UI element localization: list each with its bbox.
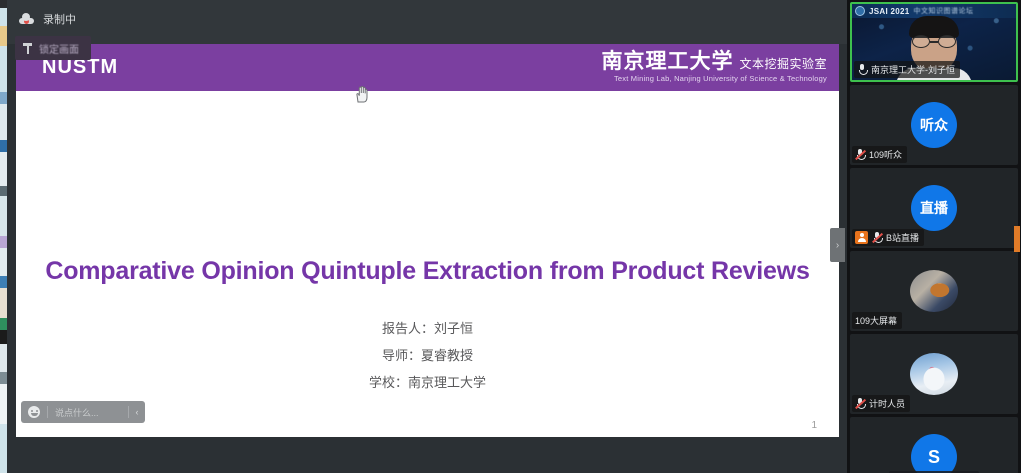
- participant-name: B站直播: [886, 231, 919, 244]
- participant-tile-speaker[interactable]: JSAI 2021 中文知识图谱论坛 南京理工大学-刘子恒: [850, 2, 1018, 82]
- slide-page-number: 1: [811, 420, 817, 431]
- meta-presenter: 报告人：刘子恒: [16, 316, 839, 343]
- meta-advisor: 导师：夏睿教授: [16, 343, 839, 370]
- participant-tile-audience[interactable]: 听众 109听众: [850, 85, 1018, 165]
- meeting-top-bar: 录制中: [7, 0, 847, 44]
- participant-tile-timekeeper[interactable]: 计时人员: [850, 334, 1018, 414]
- screen-share-meeting-window: 录制中 锁定画面 NUSTM 南京理工大学 文本挖掘实验室 Text Minin…: [0, 0, 1021, 473]
- pin-tooltip-label: 锁定画面: [39, 41, 79, 56]
- participant-name: 计时人员: [869, 397, 905, 410]
- participant-tile-s[interactable]: S ⌄: [850, 417, 1018, 473]
- chat-collapse-icon[interactable]: ‹: [128, 406, 145, 418]
- recording-label: 录制中: [43, 11, 76, 27]
- pin-video-tooltip[interactable]: 锁定画面: [15, 36, 91, 60]
- slide-body: Comparative Opinion Quintuple Extraction…: [16, 91, 839, 437]
- participant-label: B站直播: [852, 229, 924, 246]
- conference-logo-icon: [855, 6, 865, 16]
- conference-banner-text-cn: 中文知识图谱论坛: [914, 6, 974, 16]
- participant-label: 南京理工大学-刘子恒: [854, 61, 960, 78]
- participant-name: 南京理工大学-刘子恒: [871, 63, 955, 76]
- emoji-icon[interactable]: [21, 406, 47, 418]
- cloud-recording-icon: [19, 14, 34, 24]
- mic-on-icon: [857, 64, 867, 75]
- meeting-bottom-bar: [14, 440, 854, 473]
- participant-rail: JSAI 2021 中文知识图谱论坛 南京理工大学-刘子恒 听众 109听众: [847, 0, 1021, 473]
- meta-school: 学校：南京理工大学: [16, 370, 839, 397]
- slide-title: Comparative Opinion Quintuple Extraction…: [16, 257, 839, 286]
- participant-label: 计时人员: [852, 395, 910, 412]
- avatar: S: [911, 434, 957, 473]
- university-name-cn: 南京理工大学: [601, 49, 733, 72]
- pin-icon: [23, 43, 32, 54]
- vertical-scrollbar-thumb[interactable]: [1014, 226, 1020, 252]
- recording-indicator: 录制中: [19, 11, 76, 27]
- mic-off-icon: [872, 232, 882, 243]
- host-badge-icon: [855, 231, 868, 244]
- panel-collapse-handle[interactable]: ›: [830, 228, 845, 262]
- chat-input-bar[interactable]: 说点什么... ‹: [21, 401, 145, 423]
- university-name-en: Text Mining Lab, Nanjing University of S…: [601, 74, 827, 83]
- shared-screen-stage: 录制中 锁定画面 NUSTM 南京理工大学 文本挖掘实验室 Text Minin…: [7, 0, 847, 473]
- participant-tile-livestream[interactable]: 直播 B站直播: [850, 168, 1018, 248]
- chat-input-placeholder[interactable]: 说点什么...: [48, 406, 128, 419]
- avatar: 直播: [911, 185, 957, 231]
- slide-meta-block: 报告人：刘子恒 导师：夏睿教授 学校：南京理工大学: [16, 316, 839, 397]
- lab-name-cn: 文本挖掘实验室: [739, 55, 827, 72]
- slide-header-banner: NUSTM 南京理工大学 文本挖掘实验室 Text Mining Lab, Na…: [16, 44, 839, 91]
- avatar: 听众: [911, 102, 957, 148]
- participant-tile-bigscreen[interactable]: 109大屏幕: [850, 251, 1018, 331]
- mic-off-icon: [855, 398, 865, 409]
- background-window-sliver[interactable]: [0, 0, 7, 473]
- participant-name: 109大屏幕: [855, 314, 897, 327]
- presentation-slide[interactable]: NUSTM 南京理工大学 文本挖掘实验室 Text Mining Lab, Na…: [16, 44, 839, 437]
- participant-label: 109听众: [852, 146, 907, 163]
- university-branding: 南京理工大学 文本挖掘实验室 Text Mining Lab, Nanjing …: [601, 49, 827, 83]
- participant-label: 109大屏幕: [852, 312, 902, 329]
- participant-name: 109听众: [869, 148, 902, 161]
- glasses-icon: [912, 35, 956, 48]
- avatar: [910, 270, 958, 312]
- mic-off-icon: [855, 149, 865, 160]
- conference-banner-text: JSAI 2021: [869, 7, 910, 16]
- avatar: [910, 353, 958, 395]
